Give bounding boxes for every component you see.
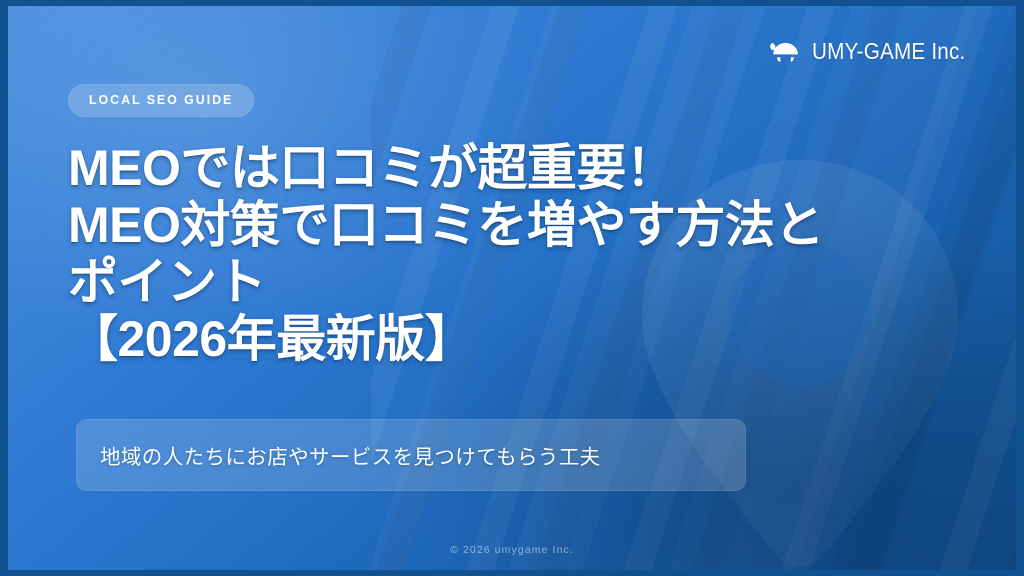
slide-canvas: UMY-GAME Inc. LOCAL SEO GUIDE MEOでは口コミが超… bbox=[8, 6, 1016, 570]
turtle-icon bbox=[769, 39, 801, 65]
footer-copyright: © 2026 umygame Inc. bbox=[8, 544, 1016, 556]
subtitle-box: 地域の人たちにお店やサービスを見つけてもらう工夫 bbox=[76, 419, 746, 491]
category-badge-label: LOCAL SEO GUIDE bbox=[89, 93, 233, 107]
slide-frame: UMY-GAME Inc. LOCAL SEO GUIDE MEOでは口コミが超… bbox=[0, 0, 1024, 576]
brand-name: UMY-GAME Inc. bbox=[812, 38, 965, 65]
brand-logo[interactable]: UMY-GAME Inc. bbox=[769, 38, 982, 65]
title-line-2: MEO対策で口コミを増やす方法と bbox=[68, 197, 908, 254]
title-line-4: 【2026年最新版】 bbox=[68, 311, 908, 368]
title-line-1: MEOでは口コミが超重要！ bbox=[68, 140, 908, 197]
page-title: MEOでは口コミが超重要！ MEO対策で口コミを増やす方法と ポイント 【202… bbox=[68, 140, 908, 368]
title-line-3: ポイント bbox=[68, 254, 908, 311]
subtitle-text: 地域の人たちにお店やサービスを見つけてもらう工夫 bbox=[76, 440, 601, 470]
category-badge: LOCAL SEO GUIDE bbox=[68, 84, 254, 117]
